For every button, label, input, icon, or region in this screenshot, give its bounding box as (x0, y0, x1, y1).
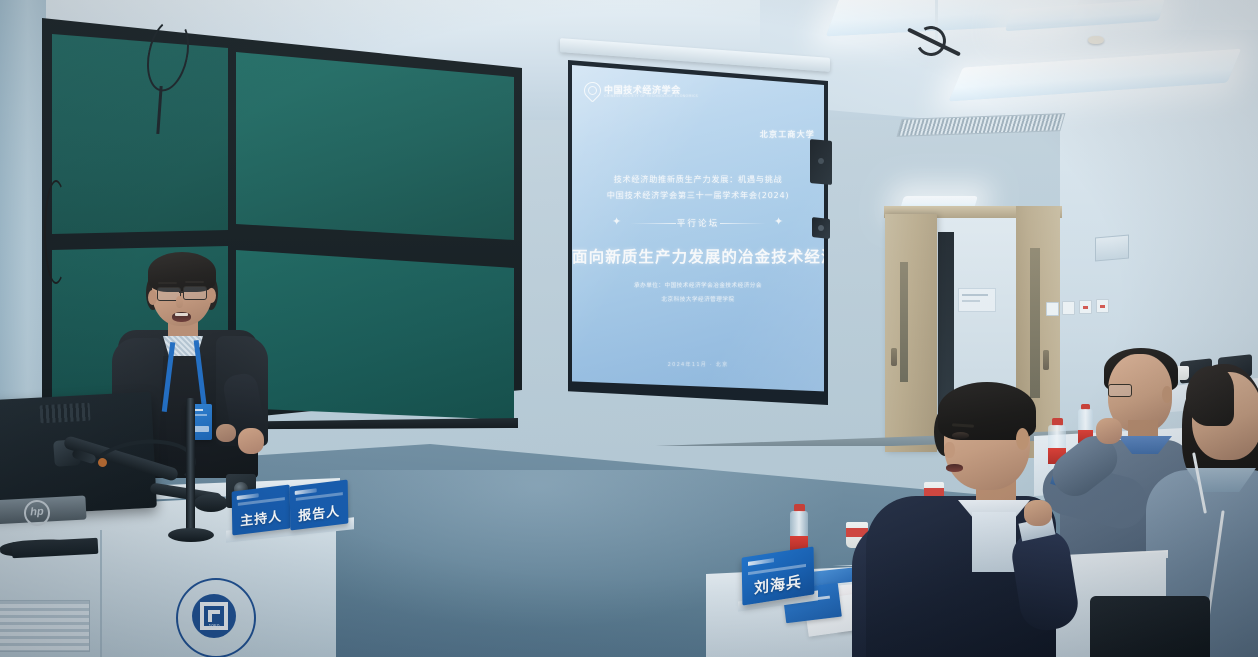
audience-eye (952, 432, 969, 439)
switch-indicator-icon (1100, 305, 1105, 308)
microphone-post (186, 398, 195, 536)
glasses-icon (183, 286, 207, 300)
plate-logo-icon (295, 488, 317, 495)
university-logo-year: 1950 (198, 624, 230, 630)
blackboard-panel (236, 250, 514, 420)
slide-organizer-line1: 承办单位：中国技术经济学会冶金技术经济分会 (572, 281, 824, 289)
wall-switch[interactable] (1096, 299, 1109, 313)
slide-headline-line1: 技术经济助推新质生产力发展：机遇与挑战 (572, 173, 824, 185)
slide-divider-rule (720, 223, 766, 224)
projection-screen: 中国技术经济学会 CHINESE SOCIETY OF TECHNOLOGY E… (572, 65, 824, 398)
audience-ear (1162, 386, 1172, 403)
glasses-icon (1108, 384, 1132, 397)
microphone-base (168, 528, 214, 542)
lectern-panel-seam (100, 530, 102, 657)
audience-hair-front (1186, 366, 1234, 426)
blackboard-panel (236, 52, 514, 240)
door-vision-panel (900, 262, 908, 382)
slide-organizer-line2: 北京科技大学经济管理学院 (572, 295, 824, 303)
switch-indicator-icon (1083, 306, 1088, 309)
name-plate-host-label: 主持人 (232, 504, 290, 530)
left-wall-strip (0, 0, 46, 420)
chair[interactable] (1090, 596, 1210, 657)
presenter-hand (216, 424, 236, 442)
lectern-vent (0, 600, 90, 652)
speaker-cone-icon (818, 158, 824, 164)
hanging-cable (44, 180, 68, 284)
wall-switch[interactable] (1046, 302, 1059, 316)
presenter-hand (238, 428, 264, 454)
presenter-teeth (175, 313, 188, 316)
door-left[interactable] (885, 214, 937, 452)
door-handle[interactable] (1043, 350, 1049, 370)
audience-hand (1096, 418, 1122, 444)
slide-forum-label: 平行论坛 (572, 217, 824, 229)
smoke-detector-icon (1088, 36, 1104, 44)
slide-title: 面向新质生产力发展的冶金技术经济 (572, 245, 824, 267)
speaker-cone-icon (818, 225, 824, 231)
door-handle[interactable] (891, 348, 897, 366)
cup-band (924, 488, 944, 496)
wall-switch[interactable] (1062, 301, 1075, 315)
slide-footer: 2024年11月 · 北京 (572, 361, 824, 368)
audience-shirt (972, 512, 1016, 572)
audience-nose (944, 442, 955, 458)
monitor-arm-clamp (194, 494, 228, 512)
audience-hand (1024, 500, 1052, 526)
name-plate-host: 主持人 (232, 484, 291, 535)
society-logo-subtext: CHINESE SOCIETY OF TECHNOLOGY ECONOMICS (604, 94, 698, 98)
presenter-ear (207, 288, 216, 303)
door-vision-panel (1030, 248, 1040, 398)
classroom-photo-scene: 中国技术经济学会 CHINESE SOCIETY OF TECHNOLOGY E… (0, 0, 1258, 657)
wall-switch[interactable] (1079, 300, 1092, 314)
presenter-ear (148, 290, 157, 305)
name-plate-presenter-label: 报告人 (290, 499, 348, 525)
name-plate-presenter: 报告人 (290, 479, 349, 530)
slide-star-icon: ✦ (774, 217, 785, 228)
presenter-nose (176, 296, 183, 308)
monitor-vent-grille (40, 403, 91, 424)
wall-panel-box (1095, 235, 1129, 262)
audience-ear (1016, 428, 1029, 450)
university-logo-text: 北京工商大学 (760, 129, 815, 140)
sign-text-line (962, 300, 980, 302)
sign-text-line (962, 294, 988, 296)
audience-mouth (946, 464, 963, 472)
slide-headline-line2: 中国技术经济学会第三十一届学术年会(2024) (572, 189, 824, 201)
plate-logo-icon (237, 493, 259, 500)
blackboard-panel (52, 34, 228, 234)
glasses-bridge-icon (179, 291, 184, 293)
